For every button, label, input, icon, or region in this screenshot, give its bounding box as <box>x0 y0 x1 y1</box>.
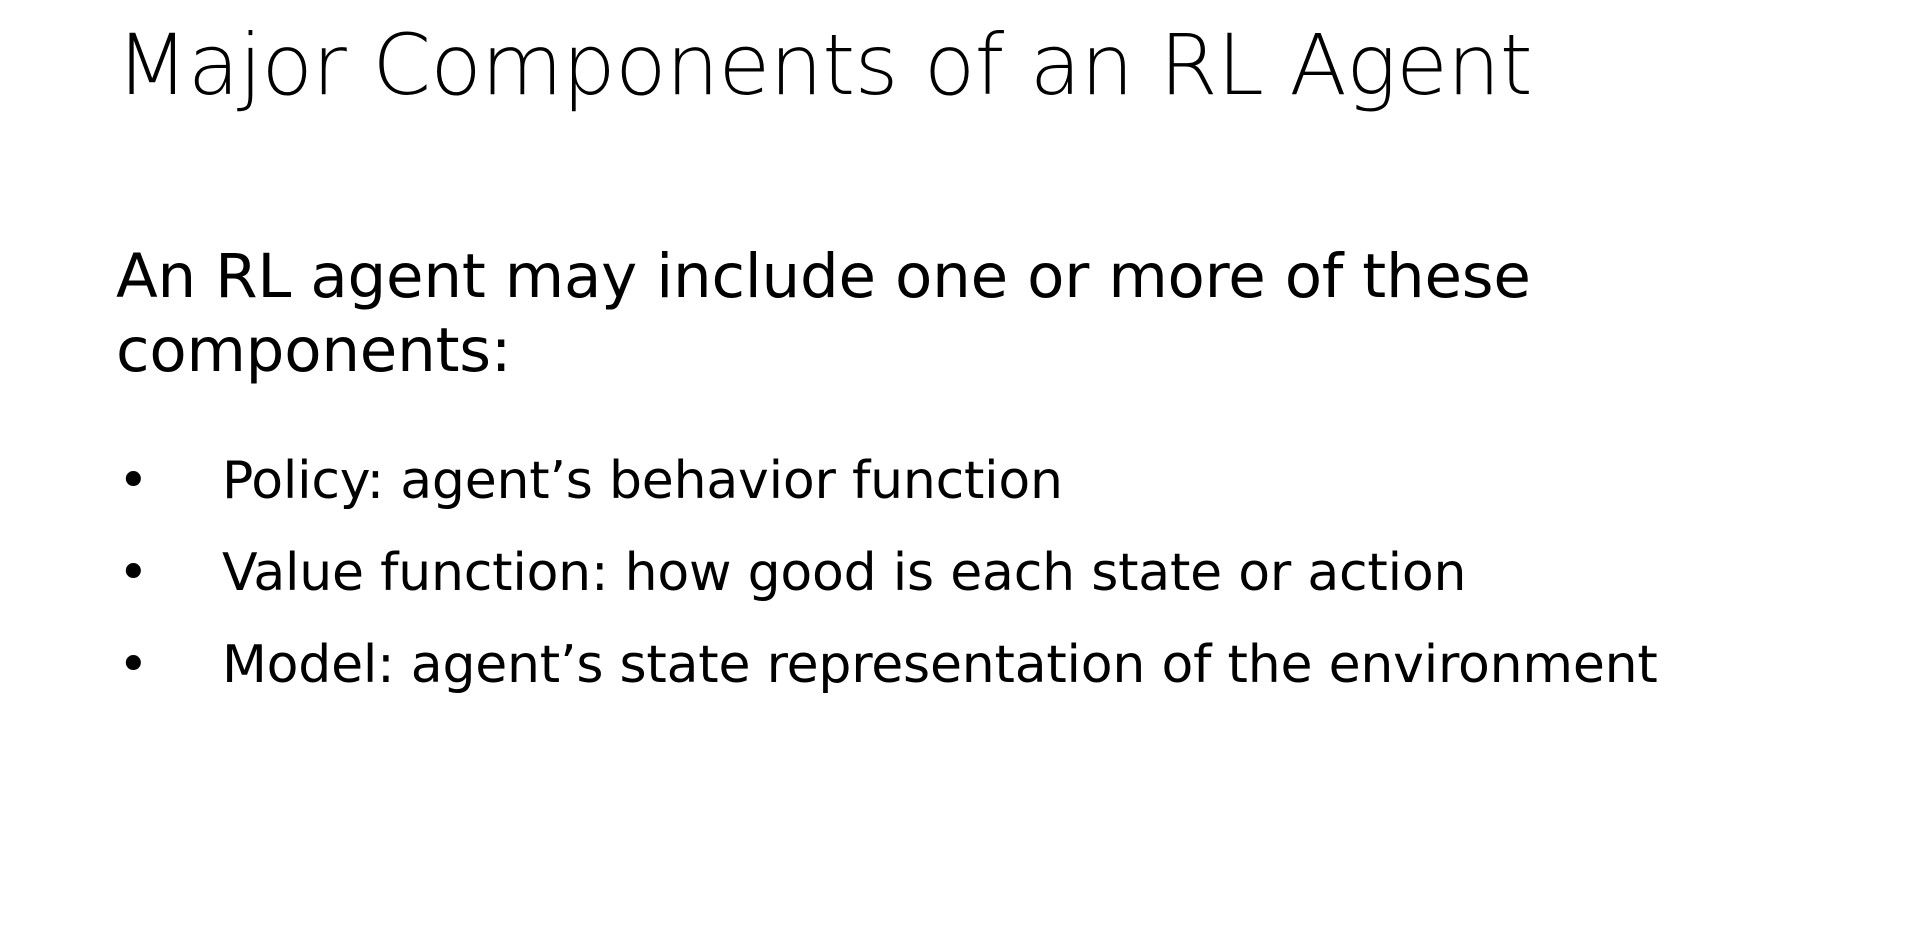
page-title: Major Components of an RL Agent <box>116 20 1816 111</box>
list-item-label: Value function: how good is each state o… <box>222 547 1466 599</box>
list-item-policy: • Policy: agent’s behavior function <box>116 455 1776 507</box>
bullet-point-icon: • <box>118 639 158 691</box>
slide-canvas: Major Components of an RL Agent An RL ag… <box>0 0 1920 952</box>
bullet-point-icon: • <box>118 455 158 507</box>
component-bullet-list: • Policy: agent’s behavior function • Va… <box>116 455 1776 691</box>
list-item-value-function: • Value function: how good is each state… <box>116 547 1776 599</box>
list-item-model: • Model: agent’s state representation of… <box>116 639 1776 691</box>
list-item-label: Policy: agent’s behavior function <box>222 455 1063 507</box>
bullet-point-icon: • <box>118 547 158 599</box>
list-item-label: Model: agent’s state representation of t… <box>222 639 1658 691</box>
slide-body: An RL agent may include one or more of t… <box>116 240 1776 691</box>
lead-paragraph: An RL agent may include one or more of t… <box>116 240 1726 389</box>
